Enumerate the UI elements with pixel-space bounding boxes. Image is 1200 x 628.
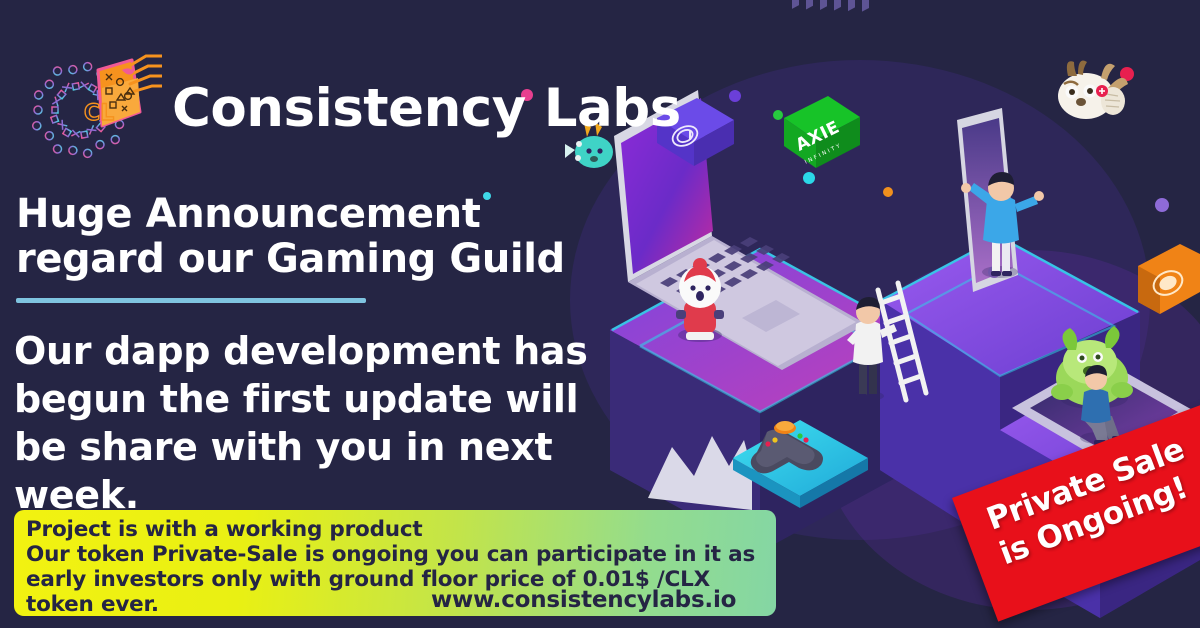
headline: Huge Announcement regard our Gaming Guil… [16,192,565,282]
headline-line-1: Huge Announcement [16,192,565,237]
consistency-labs-logo-icon: CL [22,48,162,168]
promotional-banner: AXIE INFINITY [0,0,1200,628]
body-copy: Our dapp development has begun the first… [14,328,634,520]
orange-card [1138,244,1200,314]
divider-rule [16,298,366,303]
website-url[interactable]: www.consistencylabs.io [431,587,736,613]
logo-monogram-text: CL [84,101,114,126]
promo-panel: Project is with a working product Our to… [14,510,776,616]
axie-cream-beast [1058,61,1128,120]
headline-line-2: regard our Gaming Guild [16,237,565,282]
brand-name: Consistency Labs [172,82,681,135]
brand-logo-row: CL Consistency Labs [22,48,681,168]
